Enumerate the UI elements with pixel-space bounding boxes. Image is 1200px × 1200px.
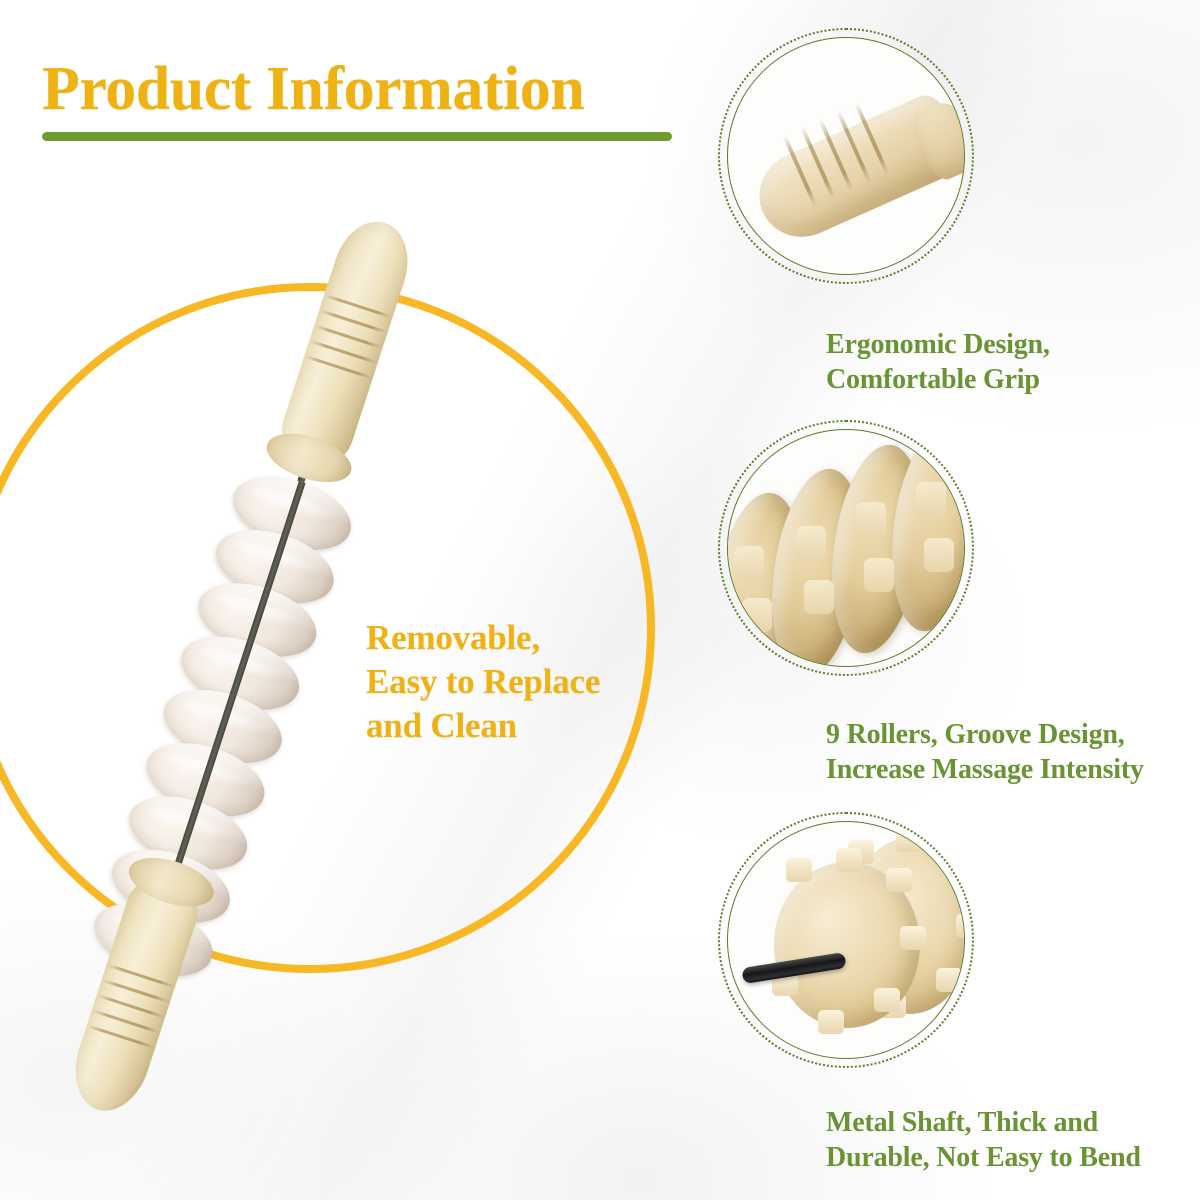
roller-notch: [864, 558, 894, 592]
callout-circle-frame: [718, 28, 974, 284]
roller-tooth: [944, 856, 965, 880]
callout-image-metal-shaft: [727, 821, 965, 1059]
callout-ergonomic-design: Ergonomic Design, Comfortable Grip: [718, 28, 974, 284]
roller-tooth: [936, 968, 962, 992]
roller-tooth: [786, 858, 812, 882]
page-title-block: Product Information: [42, 58, 742, 141]
product-handle-top: [274, 212, 419, 470]
page-title: Product Information: [42, 58, 742, 120]
callout-caption-metal-shaft: Metal Shaft, Thick and Durable, Not Easy…: [826, 1106, 1141, 1175]
callout-metal-shaft: Metal Shaft, Thick and Durable, Not Easy…: [718, 812, 974, 1068]
roller-tooth: [956, 914, 965, 938]
roller-notch: [734, 546, 764, 580]
roller-notch: [916, 482, 946, 516]
roller-tooth: [900, 926, 926, 950]
title-underline-rule: [42, 132, 672, 141]
caption-line: Metal Shaft, Thick and: [826, 1106, 1141, 1141]
roller-tooth: [836, 848, 862, 872]
callout-circle-frame: [718, 812, 974, 1068]
center-caption-line: Removable,: [366, 616, 666, 660]
callout-image-ergonomic: [727, 37, 965, 275]
callout-image-rollers: [727, 429, 965, 667]
roller-tooth: [896, 828, 922, 852]
center-caption-line: and Clean: [366, 704, 666, 748]
roller-notch: [796, 526, 826, 560]
caption-line: Comfortable Grip: [826, 363, 1050, 398]
roller-notch: [856, 502, 886, 536]
callout-caption-rollers: 9 Rollers, Groove Design, Increase Massa…: [826, 718, 1144, 787]
rollers-closeup-art: [728, 430, 964, 666]
callout-caption-ergonomic: Ergonomic Design, Comfortable Grip: [826, 328, 1050, 397]
roller-tooth: [886, 868, 912, 892]
caption-line: Ergonomic Design,: [826, 328, 1050, 363]
gear-roller-closeup-art: [728, 822, 964, 1058]
caption-line: Increase Massage Intensity: [826, 753, 1144, 788]
roller-tooth: [818, 1010, 844, 1034]
center-feature-caption: Removable, Easy to Replace and Clean: [366, 616, 666, 748]
caption-line: Durable, Not Easy to Bend: [826, 1141, 1141, 1176]
center-caption-line: Easy to Replace: [366, 660, 666, 704]
roller-tooth: [874, 988, 900, 1012]
callout-nine-rollers: 9 Rollers, Groove Design, Increase Massa…: [718, 420, 974, 676]
callout-circle-frame: [718, 420, 974, 676]
product-handle-bottom: [63, 872, 205, 1121]
roller-notch: [924, 538, 954, 572]
roller-notch: [804, 580, 834, 614]
caption-line: 9 Rollers, Groove Design,: [826, 718, 1144, 753]
infographic-canvas: Product Information: [0, 0, 1200, 1200]
handle-closeup-art: [727, 58, 965, 273]
roller-notch: [742, 598, 772, 632]
